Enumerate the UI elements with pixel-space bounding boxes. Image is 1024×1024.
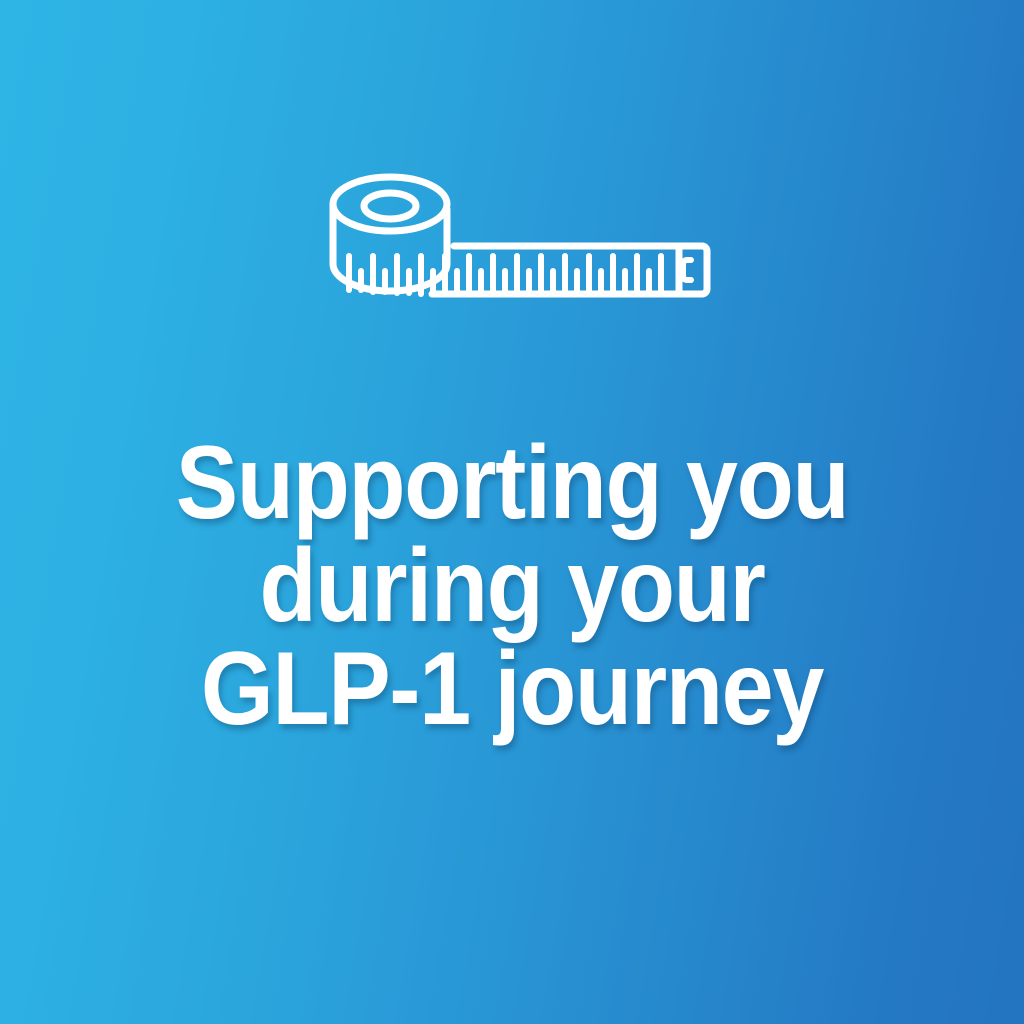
tape-hook-slot — [683, 260, 691, 280]
headline: Supporting you during your GLP-1 journey — [51, 432, 973, 741]
headline-line-1: Supporting you — [51, 432, 973, 535]
tape-roll-hub-ellipse — [364, 193, 416, 219]
tape-strip — [432, 246, 707, 294]
icon-container — [0, 168, 1024, 338]
headline-line-3: GLP-1 journey — [51, 638, 973, 741]
poster-canvas: Supporting you during your GLP-1 journey — [0, 0, 1024, 1024]
ruler-ticks — [349, 256, 661, 294]
measuring-tape-icon — [306, 168, 718, 332]
tape-roll-outer-ellipse — [333, 177, 447, 231]
headline-line-2: during your — [51, 535, 973, 638]
